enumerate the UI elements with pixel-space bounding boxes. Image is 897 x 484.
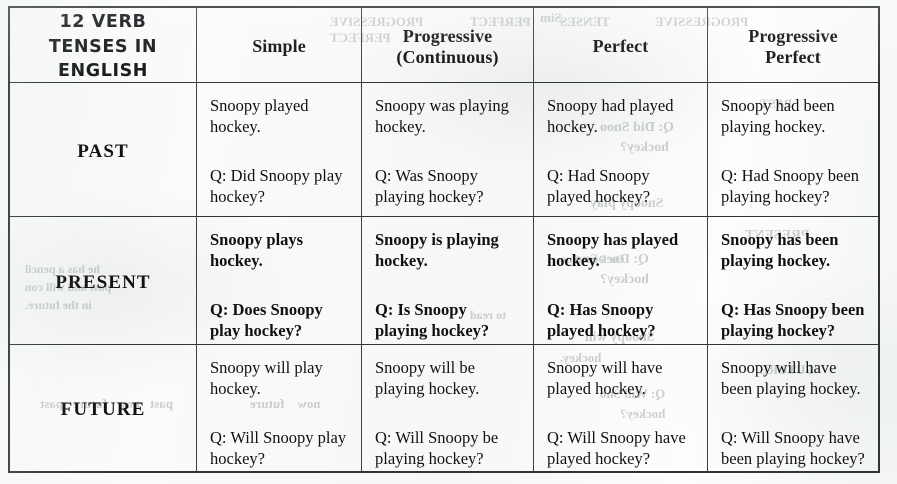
row-label-present: PRESENT bbox=[10, 217, 197, 345]
cell-present-simple: Snoopy plays hockey. Q: Does Snoopy play… bbox=[197, 217, 362, 345]
cell-present-perfect: Snoopy has played hockey. Q: Has Snoopy … bbox=[534, 217, 708, 345]
column-header-progressive-label: Progressive bbox=[396, 26, 498, 47]
question-present-progressive-perfect: Q: Has Snoopy been playing hockey? bbox=[721, 299, 865, 341]
statement-past-simple: Snoopy played hockey. bbox=[210, 95, 348, 137]
question-future-simple: Q: Will Snoopy play hockey? bbox=[210, 427, 348, 469]
scanned-worksheet-page: PROGRESSIVEPERFECTTENSESPROGRESSIVEPERFE… bbox=[0, 0, 897, 484]
question-future-progressive-perfect: Q: Will Snoopy have been playing hockey? bbox=[721, 427, 865, 469]
column-header-simple: Simple bbox=[197, 8, 362, 83]
cell-future-progressive: Snoopy will be playing hockey. Q: Will S… bbox=[362, 345, 534, 471]
statement-past-perfect: Snoopy had played hockey. bbox=[547, 95, 694, 137]
cell-future-progressive-perfect: Snoopy will have been playing hockey. Q:… bbox=[708, 345, 878, 471]
table-title-cell: 12 VERB TENSES IN ENGLISH bbox=[10, 8, 197, 83]
question-future-perfect: Q: Will Snoopy have played hockey? bbox=[547, 427, 694, 469]
table-title-line-1: 12 VERB bbox=[49, 10, 157, 35]
statement-future-perfect: Snoopy will have played hockey. bbox=[547, 357, 694, 399]
verb-tenses-table: 12 VERB TENSES IN ENGLISH Simple Progres… bbox=[8, 6, 880, 473]
table-title-line-3: ENGLISH bbox=[49, 59, 157, 83]
column-header-progressive-perfect-label: Progressive Perfect bbox=[721, 26, 865, 68]
question-present-progressive: Q: Is Snoopy playing hockey? bbox=[375, 299, 520, 341]
row-label-future: FUTURE bbox=[10, 345, 197, 471]
statement-future-simple: Snoopy will play hockey. bbox=[210, 357, 348, 399]
cell-past-progressive-perfect: Snoopy had been playing hockey. Q: Had S… bbox=[708, 83, 878, 217]
column-header-perfect-label: Perfect bbox=[593, 36, 649, 57]
question-past-perfect: Q: Had Snoopy played hockey? bbox=[547, 165, 694, 207]
question-present-perfect: Q: Has Snoopy played hockey? bbox=[547, 299, 694, 341]
cell-present-progressive-perfect: Snoopy has been playing hockey. Q: Has S… bbox=[708, 217, 878, 345]
statement-future-progressive-perfect: Snoopy will have been playing hockey. bbox=[721, 357, 865, 399]
cell-past-perfect: Snoopy had played hockey. Q: Had Snoopy … bbox=[534, 83, 708, 217]
column-header-progressive-perfect: Progressive Perfect bbox=[708, 8, 878, 83]
cell-present-progressive: Snoopy is playing hockey. Q: Is Snoopy p… bbox=[362, 217, 534, 345]
row-label-past: PAST bbox=[10, 83, 197, 217]
question-present-simple: Q: Does Snoopy play hockey? bbox=[210, 299, 348, 341]
column-header-simple-label: Simple bbox=[252, 36, 306, 57]
question-past-progressive-perfect: Q: Had Snoopy been playing hockey? bbox=[721, 165, 865, 207]
cell-future-perfect: Snoopy will have played hockey. Q: Will … bbox=[534, 345, 708, 471]
question-future-progressive: Q: Will Snoopy be playing hockey? bbox=[375, 427, 520, 469]
cell-past-simple: Snoopy played hockey. Q: Did Snoopy play… bbox=[197, 83, 362, 217]
column-header-perfect: Perfect bbox=[534, 8, 708, 83]
statement-present-simple: Snoopy plays hockey. bbox=[210, 229, 348, 271]
statement-present-perfect: Snoopy has played hockey. bbox=[547, 229, 694, 271]
cell-future-simple: Snoopy will play hockey. Q: Will Snoopy … bbox=[197, 345, 362, 471]
column-header-progressive: Progressive (Continuous) bbox=[362, 8, 534, 83]
column-header-progressive-sublabel: (Continuous) bbox=[396, 47, 498, 68]
row-label-future-text: FUTURE bbox=[61, 399, 146, 421]
row-label-present-text: PRESENT bbox=[55, 272, 150, 294]
question-past-progressive: Q: Was Snoopy playing hockey? bbox=[375, 165, 520, 207]
question-past-simple: Q: Did Snoopy play hockey? bbox=[210, 165, 348, 207]
statement-past-progressive-perfect: Snoopy had been playing hockey. bbox=[721, 95, 865, 137]
statement-present-progressive-perfect: Snoopy has been playing hockey. bbox=[721, 229, 865, 271]
row-label-past-text: PAST bbox=[77, 141, 129, 163]
statement-past-progressive: Snoopy was playing hockey. bbox=[375, 95, 520, 137]
statement-present-progressive: Snoopy is playing hockey. bbox=[375, 229, 520, 271]
cell-past-progressive: Snoopy was playing hockey. Q: Was Snoopy… bbox=[362, 83, 534, 217]
table-title-line-2: TENSES IN bbox=[49, 35, 157, 60]
statement-future-progressive: Snoopy will be playing hockey. bbox=[375, 357, 520, 399]
